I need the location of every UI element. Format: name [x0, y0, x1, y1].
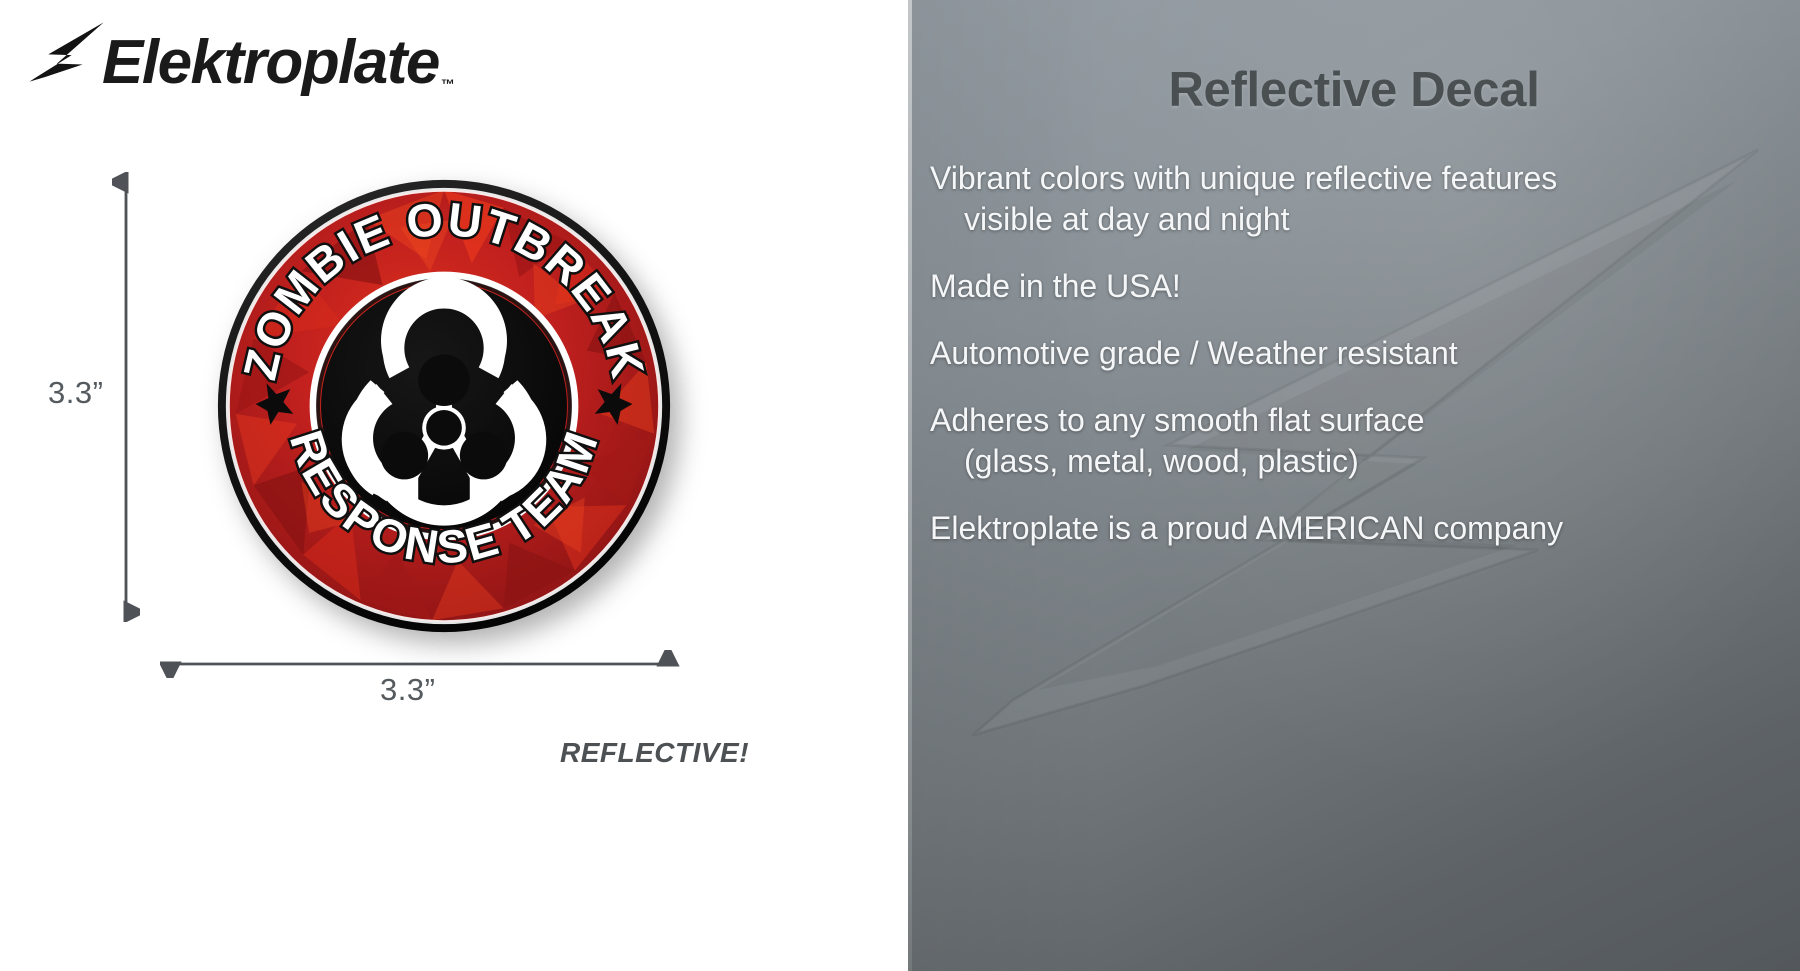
feature-bullet-line: Adheres to any smooth flat surface — [908, 400, 1800, 441]
height-dimension-arrow — [112, 172, 140, 622]
width-dimension-label: 3.3” — [380, 672, 435, 708]
biohazard-center-dot — [426, 410, 462, 446]
feature-bullet-line: Elektroplate is a proud AMERICAN company — [908, 508, 1800, 549]
product-slide: Elektroplate ™ 3.3” — [0, 0, 1800, 971]
feature-bullet: Adheres to any smooth flat surface(glass… — [908, 400, 1800, 482]
product-image-panel: Elektroplate ™ 3.3” — [0, 0, 908, 971]
biohazard-top-void — [418, 354, 470, 406]
biohazard-left-void — [381, 432, 429, 480]
brand-logo: Elektroplate ™ — [28, 20, 461, 98]
feature-bullet: Made in the USA! — [908, 266, 1800, 307]
height-dimension-label: 3.3” — [48, 375, 103, 411]
trademark-symbol: ™ — [441, 76, 455, 92]
feature-bullet-line: Made in the USA! — [908, 266, 1800, 307]
decal-product-image[interactable]: ZOMBIE OUTBREAK RESPONSE TEAM — [206, 168, 682, 644]
feature-bullet-line: Vibrant colors with unique reflective fe… — [908, 158, 1800, 199]
feature-bullet: Automotive grade / Weather resistant — [908, 333, 1800, 374]
feature-bullet-line: visible at day and night — [908, 199, 1800, 240]
biohazard-right-void — [460, 432, 508, 480]
lightning-bolt-icon — [28, 20, 106, 98]
reflective-note: REFLECTIVE! — [560, 737, 749, 769]
feature-bullet: Vibrant colors with unique reflective fe… — [908, 158, 1800, 240]
info-panel: Reflective Decal Vibrant colors with uni… — [908, 0, 1800, 971]
feature-list: Vibrant colors with unique reflective fe… — [908, 158, 1800, 575]
panel-heading: Reflective Decal — [908, 62, 1800, 118]
feature-bullet-line: Automotive grade / Weather resistant — [908, 333, 1800, 374]
zombie-outbreak-decal-graphic: ZOMBIE OUTBREAK RESPONSE TEAM — [206, 168, 682, 644]
brand-name: Elektroplate — [102, 32, 439, 94]
feature-bullet-line: (glass, metal, wood, plastic) — [908, 441, 1800, 482]
feature-bullet: Elektroplate is a proud AMERICAN company — [908, 508, 1800, 549]
